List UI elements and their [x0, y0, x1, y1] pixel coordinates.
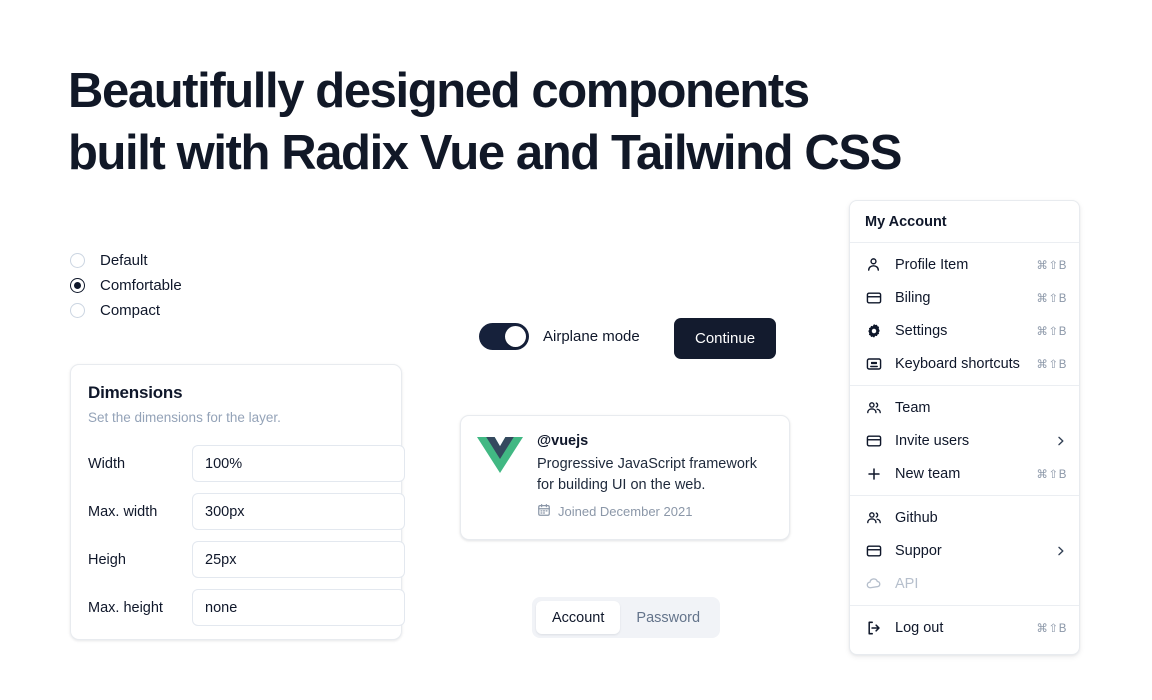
chevron-right-icon	[1055, 545, 1067, 557]
field-label-max-width: Max. width	[88, 504, 192, 520]
airplane-mode-row: Airplane mode	[479, 323, 640, 350]
chevron-right-icon	[1055, 435, 1067, 447]
radio-option-default[interactable]: Default	[70, 248, 182, 273]
menu-item-billing-label: Biling	[895, 290, 1036, 306]
page-title-line-1: Beautifully designed components	[68, 60, 1028, 122]
settings-tabs: Account Password	[532, 597, 720, 638]
vuejs-hover-card: @vuejs Progressive JavaScript framework …	[460, 415, 790, 540]
radio-option-comfortable[interactable]: Comfortable	[70, 273, 182, 298]
page-title: Beautifully designed components built wi…	[68, 60, 1028, 184]
users-icon	[864, 510, 883, 526]
menu-item-profile-label: Profile Item	[895, 257, 1036, 273]
menu-item-new-team[interactable]: New team ⌘⇧B	[850, 457, 1079, 490]
credit-card-icon	[864, 433, 883, 449]
tab-account[interactable]: Account	[536, 601, 620, 634]
menu-item-settings[interactable]: Settings ⌘⇧B	[850, 314, 1079, 347]
logout-icon	[864, 620, 883, 636]
plus-icon	[864, 466, 883, 482]
joined-text: Joined December 2021	[558, 504, 692, 519]
radio-label-default: Default	[100, 253, 148, 268]
dimensions-subtitle: Set the dimensions for the layer.	[88, 410, 384, 425]
joined-row: Joined December 2021	[537, 503, 773, 520]
cloud-icon	[864, 576, 883, 592]
menu-group-account: Profile Item ⌘⇧B Biling ⌘⇧B Settings ⌘⇧B	[850, 243, 1079, 385]
hover-card-body: @vuejs Progressive JavaScript framework …	[537, 433, 773, 522]
menu-item-billing[interactable]: Biling ⌘⇧B	[850, 281, 1079, 314]
field-label-max-height: Max. height	[88, 600, 192, 616]
menu-item-support-label: Suppor	[895, 543, 1055, 559]
field-row-width: Width	[88, 445, 384, 482]
height-input[interactable]	[192, 541, 405, 578]
menu-item-github[interactable]: Github	[850, 501, 1079, 534]
width-input[interactable]	[192, 445, 405, 482]
vuejs-description: Progressive JavaScript framework for bui…	[537, 454, 773, 496]
menu-item-github-label: Github	[895, 510, 1067, 526]
tab-password[interactable]: Password	[620, 601, 716, 634]
menu-header: My Account	[850, 201, 1079, 242]
vuejs-handle: @vuejs	[537, 433, 773, 449]
keyboard-icon	[864, 356, 883, 372]
menu-item-api-label: API	[895, 576, 1067, 592]
menu-group-team: Team Invite users New team ⌘⇧B	[850, 386, 1079, 495]
radio-indicator-default[interactable]	[70, 253, 85, 268]
switch-knob	[505, 326, 526, 347]
menu-item-invite-users-label: Invite users	[895, 433, 1055, 449]
gear-icon	[864, 323, 883, 339]
menu-item-profile[interactable]: Profile Item ⌘⇧B	[850, 248, 1079, 281]
menu-item-support[interactable]: Suppor	[850, 534, 1079, 567]
field-row-max-width: Max. width	[88, 493, 384, 530]
max-width-input[interactable]	[192, 493, 405, 530]
credit-card-icon	[864, 543, 883, 559]
menu-item-logout-label: Log out	[895, 620, 1036, 636]
menu-item-new-team-shortcut: ⌘⇧B	[1036, 467, 1067, 481]
radio-label-compact: Compact	[100, 303, 160, 318]
menu-item-team-label: Team	[895, 400, 1067, 416]
menu-item-settings-label: Settings	[895, 323, 1036, 339]
users-icon	[864, 400, 883, 416]
menu-group-resources: Github Suppor API	[850, 496, 1079, 605]
airplane-mode-label: Airplane mode	[543, 328, 640, 345]
continue-button[interactable]: Continue	[674, 318, 776, 359]
user-icon	[864, 257, 883, 272]
field-label-width: Width	[88, 456, 192, 472]
radio-indicator-comfortable[interactable]	[70, 278, 85, 293]
radio-option-compact[interactable]: Compact	[70, 298, 182, 323]
menu-item-keyboard-shortcuts[interactable]: Keyboard shortcuts ⌘⇧B	[850, 347, 1079, 380]
menu-item-billing-shortcut: ⌘⇧B	[1036, 291, 1067, 305]
menu-item-settings-shortcut: ⌘⇧B	[1036, 324, 1067, 338]
dimensions-title: Dimensions	[88, 383, 384, 403]
calendar-icon	[537, 503, 558, 520]
density-radio-group: Default Comfortable Compact	[70, 248, 182, 323]
menu-item-new-team-label: New team	[895, 466, 1036, 482]
max-height-input[interactable]	[192, 589, 405, 626]
vue-logo-icon	[477, 433, 523, 522]
field-row-height: Heigh	[88, 541, 384, 578]
radio-label-comfortable: Comfortable	[100, 278, 182, 293]
dimensions-card: Dimensions Set the dimensions for the la…	[70, 364, 402, 640]
menu-group-logout: Log out ⌘⇧B	[850, 606, 1079, 649]
menu-item-logout-shortcut: ⌘⇧B	[1036, 621, 1067, 635]
menu-item-profile-shortcut: ⌘⇧B	[1036, 258, 1067, 272]
radio-indicator-compact[interactable]	[70, 303, 85, 318]
menu-item-team[interactable]: Team	[850, 391, 1079, 424]
field-label-height: Heigh	[88, 552, 192, 568]
menu-item-api: API	[850, 567, 1079, 600]
dimensions-fields: Width Max. width Heigh Max. height	[88, 445, 384, 626]
menu-item-keyboard-shortcuts-label: Keyboard shortcuts	[895, 356, 1036, 372]
account-dropdown-menu: My Account Profile Item ⌘⇧B Biling ⌘⇧B	[849, 200, 1080, 655]
menu-item-logout[interactable]: Log out ⌘⇧B	[850, 611, 1079, 644]
airplane-mode-switch[interactable]	[479, 323, 529, 350]
field-row-max-height: Max. height	[88, 589, 384, 626]
menu-item-keyboard-shortcuts-shortcut: ⌘⇧B	[1036, 357, 1067, 371]
menu-item-invite-users[interactable]: Invite users	[850, 424, 1079, 457]
credit-card-icon	[864, 290, 883, 306]
page-title-line-2: built with Radix Vue and Tailwind CSS	[68, 122, 1028, 184]
